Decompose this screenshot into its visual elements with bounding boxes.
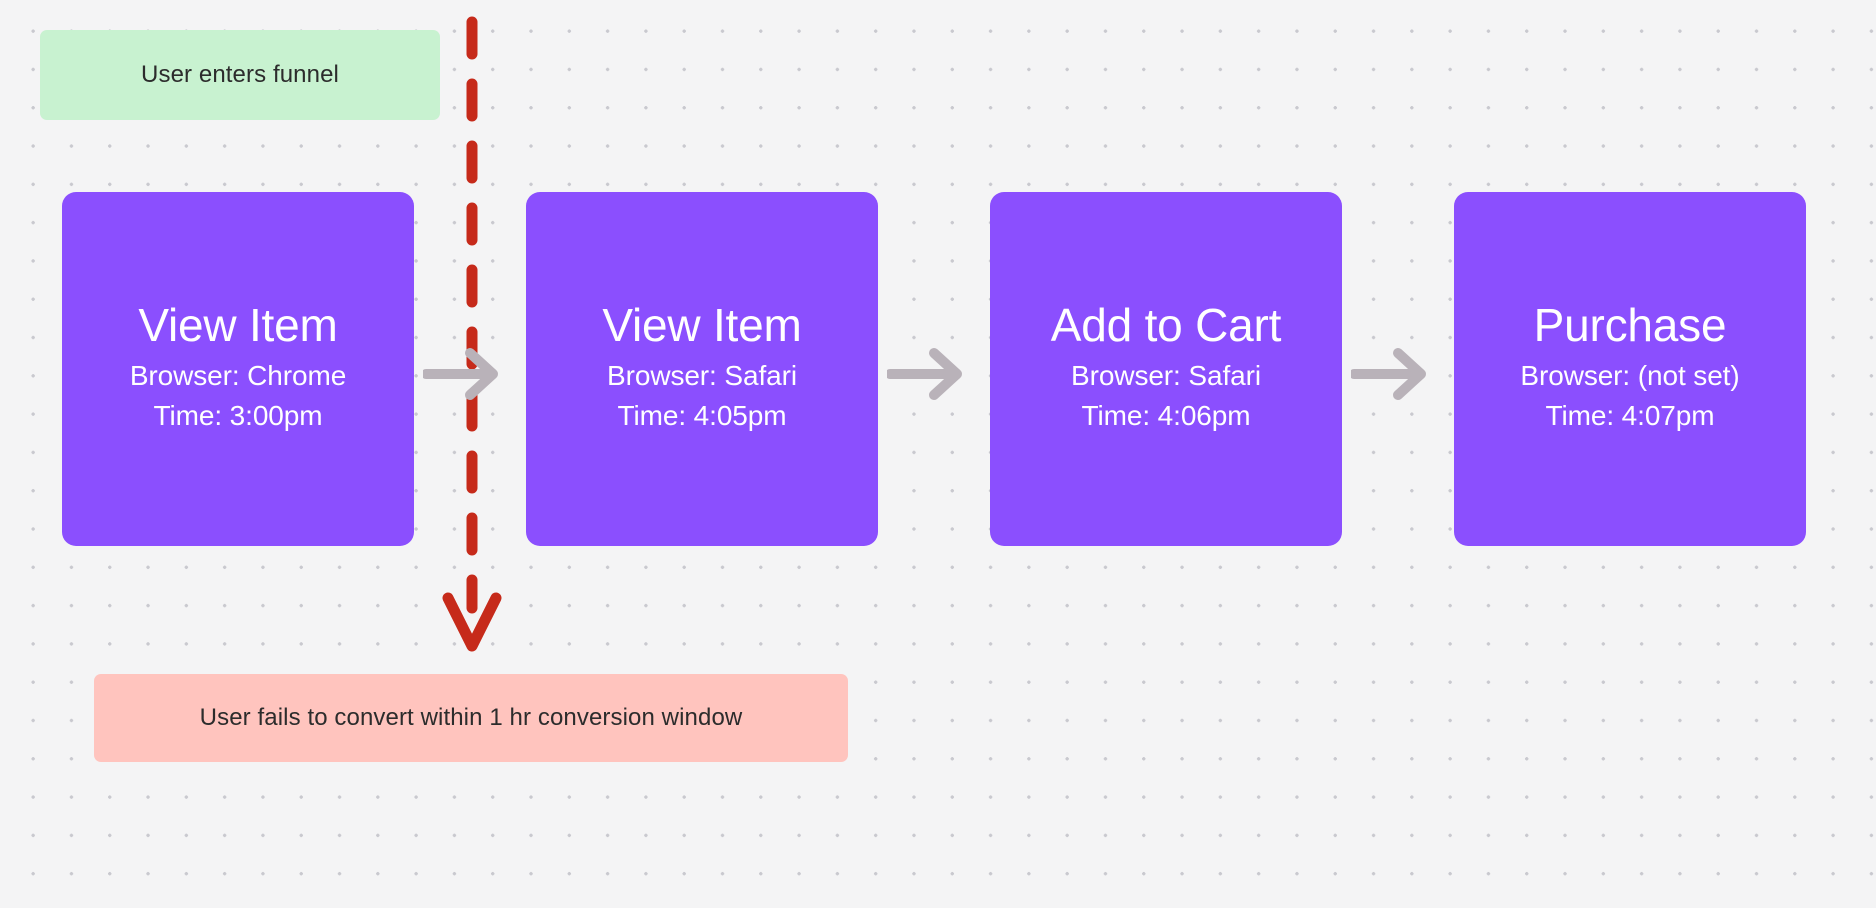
funnel-step-time: Time: 4:05pm (618, 396, 787, 436)
connector-arrow (887, 348, 967, 400)
dropoff-banner-label: User fails to convert within 1 hr conver… (200, 704, 743, 732)
funnel-step-time: Time: 3:00pm (154, 396, 323, 436)
funnel-step-title: View Item (602, 302, 801, 350)
funnel-step-browser: Browser: Chrome (130, 356, 346, 396)
funnel-step-title: View Item (138, 302, 337, 350)
entry-badge[interactable]: User enters funnel (40, 30, 440, 120)
arrow-right-icon (1351, 348, 1431, 400)
connector-arrow (1351, 348, 1431, 400)
funnel-step-card[interactable]: View Item Browser: Safari Time: 4:05pm (526, 192, 878, 546)
dropoff-banner[interactable]: User fails to convert within 1 hr conver… (94, 674, 848, 762)
funnel-step-time: Time: 4:07pm (1546, 396, 1715, 436)
diagram-canvas: User enters funnel View Item Browser: Ch… (0, 0, 1876, 908)
dropoff-line (440, 0, 504, 672)
funnel-step-card[interactable]: Purchase Browser: (not set) Time: 4:07pm (1454, 192, 1806, 546)
funnel-step-card[interactable]: Add to Cart Browser: Safari Time: 4:06pm (990, 192, 1342, 546)
connector-arrow (423, 348, 503, 400)
funnel-step-title: Add to Cart (1051, 302, 1281, 350)
funnel-step-card[interactable]: View Item Browser: Chrome Time: 3:00pm (62, 192, 414, 546)
arrow-right-icon (887, 348, 967, 400)
funnel-step-browser: Browser: Safari (1071, 356, 1261, 396)
entry-badge-label: User enters funnel (141, 61, 339, 89)
funnel-step-browser: Browser: Safari (607, 356, 797, 396)
arrow-right-icon (423, 348, 503, 400)
funnel-step-browser: Browser: (not set) (1520, 356, 1739, 396)
dropoff-line-icon (440, 0, 504, 672)
funnel-step-time: Time: 4:06pm (1082, 396, 1251, 436)
funnel-step-title: Purchase (1534, 302, 1727, 350)
